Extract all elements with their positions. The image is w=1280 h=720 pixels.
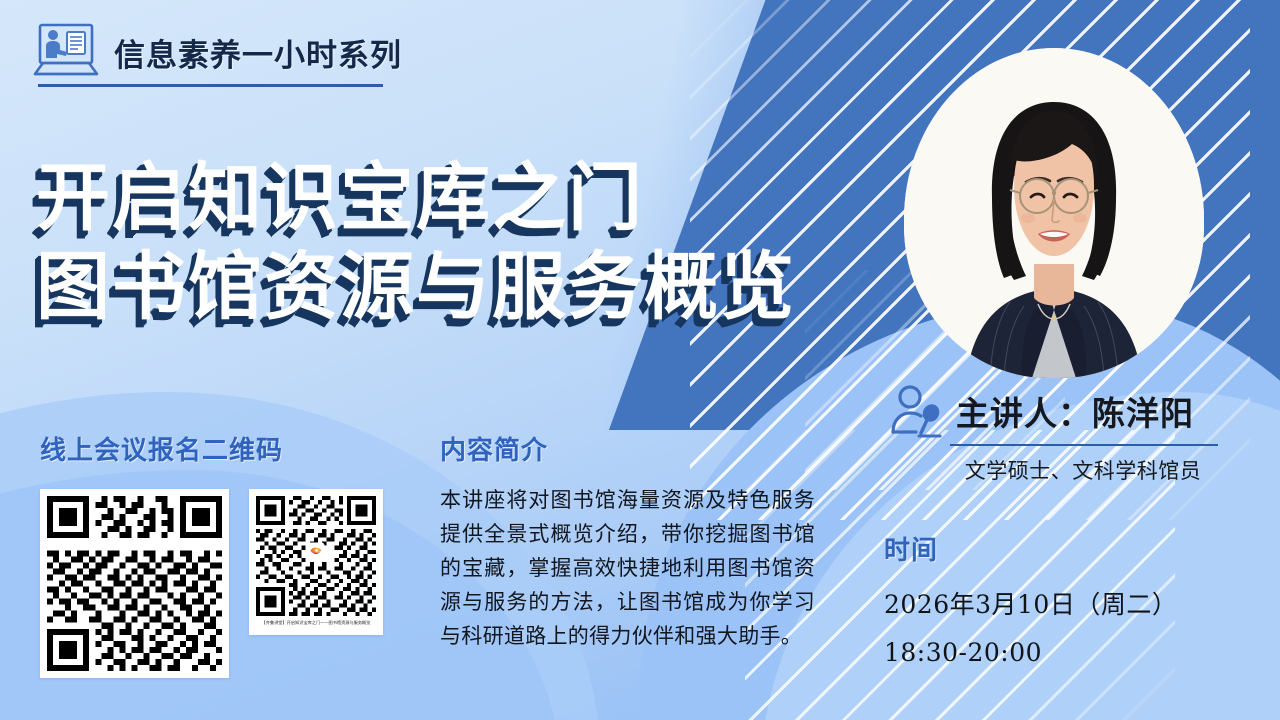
time-section-heading: 时间	[884, 530, 1177, 567]
time-values: 2026年3月10日（周二） 18:30-20:00	[884, 585, 1177, 667]
qr-code-list: 【齐鲁讲堂】开启知识宝库之门——图书馆资源与服务概览	[40, 489, 383, 678]
content-section-heading: 内容简介	[440, 430, 815, 467]
series-title: 信息素养一小时系列	[114, 30, 402, 75]
speaker-section: 主讲人：陈洋阳 文学硕士、文科学科馆员	[888, 382, 1248, 485]
content-section: 内容简介 本讲座将对图书馆海量资源及特色服务提供全景式概览介绍，带你挖掘图书馆的…	[440, 430, 815, 653]
title-line-1: 开启知识宝库之门	[36, 158, 866, 239]
series-badge: 信息素养一小时系列	[32, 22, 402, 82]
speaker-divider	[950, 444, 1218, 446]
speaker-credentials: 文学硕士、文科学科馆员	[918, 455, 1248, 485]
time-section: 时间 2026年3月10日（周二） 18:30-20:00	[884, 530, 1177, 667]
speaker-portrait	[904, 48, 1204, 378]
event-date: 2026年3月10日（周二）	[884, 585, 1177, 621]
laptop-presenter-icon	[32, 22, 100, 82]
speaker-name-row: 主讲人：陈洋阳	[888, 382, 1248, 440]
person-microphone-icon	[888, 382, 946, 440]
wechat-channel-logo-icon	[308, 543, 325, 560]
content-description: 本讲座将对图书馆海量资源及特色服务提供全景式概览介绍，带你挖掘图书馆的宝藏，掌握…	[440, 483, 815, 653]
qr-section-heading: 线上会议报名二维码	[40, 430, 383, 467]
speaker-name: 主讲人：陈洋阳	[956, 387, 1194, 435]
page-title: 开启知识宝库之门 图书馆资源与服务概览	[36, 158, 866, 327]
event-hours: 18:30-20:00	[884, 638, 1177, 667]
title-line-2: 图书馆资源与服务概览	[36, 247, 866, 328]
header-divider	[38, 84, 383, 87]
wechat-event-qr[interactable]: 【齐鲁讲堂】开启知识宝库之门——图书馆资源与服务概览	[249, 489, 383, 635]
qr-section: 线上会议报名二维码	[40, 430, 383, 678]
meeting-registration-qr[interactable]	[40, 489, 229, 678]
event-poster: 信息素养一小时系列 开启知识宝库之门 图书馆资源与服务概览 线上会议报名二维码	[0, 0, 1280, 720]
qr-caption: 【齐鲁讲堂】开启知识宝库之门——图书馆资源与服务概览	[256, 620, 376, 628]
